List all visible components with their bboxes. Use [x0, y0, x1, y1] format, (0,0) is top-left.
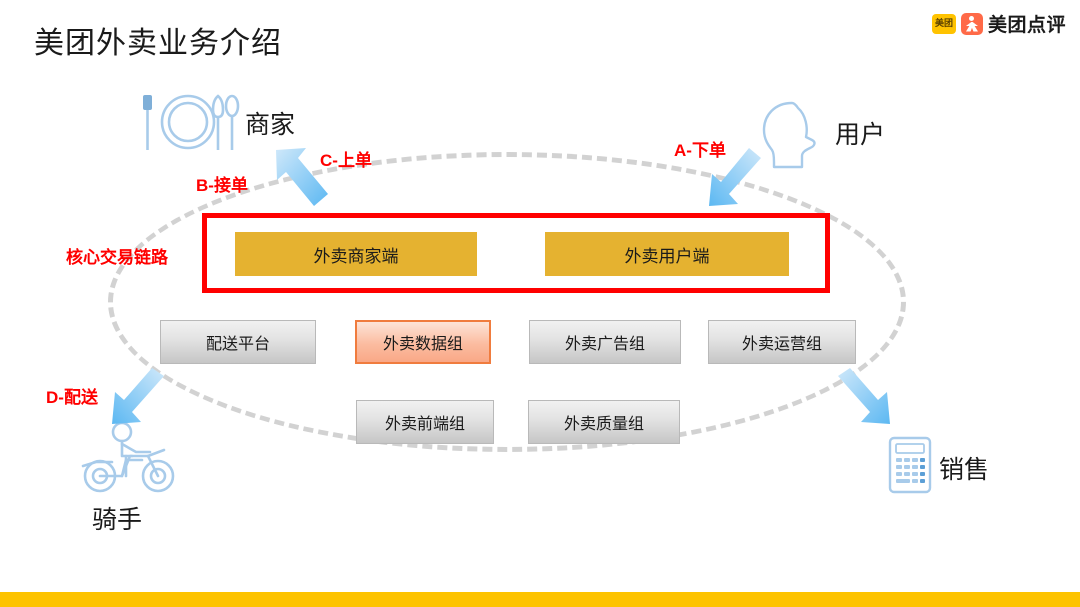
- flow-ellipse: [108, 152, 906, 452]
- bottom-accent-bar: [0, 592, 1080, 607]
- core-chain-frame: 外卖商家端 外卖用户端: [202, 213, 830, 293]
- person-head-shape: [969, 16, 974, 21]
- core-chain-label: 核心交易链路: [66, 243, 168, 268]
- meituan-person-icon: [961, 13, 983, 35]
- node-label-user: 用户: [835, 115, 885, 151]
- calculator-icon: [888, 436, 932, 494]
- flow-label-b: B-接单: [196, 171, 248, 196]
- person-body-shape: [966, 22, 978, 32]
- brand-name-label: 美团点评: [988, 10, 1066, 37]
- core-box-merchant-app[interactable]: 外卖商家端: [235, 232, 477, 276]
- node-label-merchant: 商家: [245, 105, 295, 141]
- head-profile-icon: [760, 100, 824, 170]
- team-box-delivery-platform[interactable]: 配送平台: [160, 320, 316, 364]
- cutlery-plate-icon: [136, 92, 240, 154]
- core-box-user-app[interactable]: 外卖用户端: [545, 232, 789, 276]
- page-title: 美团外卖业务介绍: [34, 18, 282, 62]
- team-box-ads-group[interactable]: 外卖广告组: [529, 320, 681, 364]
- flow-label-a: A-下单: [674, 136, 726, 161]
- arrow-downright-sales-icon: [832, 368, 894, 434]
- arrow-downleft-rider-icon: [108, 368, 170, 434]
- team-box-data-group[interactable]: 外卖数据组: [355, 320, 491, 364]
- team-box-operations-group[interactable]: 外卖运营组: [708, 320, 856, 364]
- brand-logo: 美团 美团点评: [932, 10, 1066, 37]
- team-box-frontend-group[interactable]: 外卖前端组: [356, 400, 494, 444]
- node-label-sales: 销售: [939, 450, 989, 486]
- flow-label-c: C-上单: [320, 146, 372, 171]
- flow-label-d: D-配送: [46, 383, 98, 408]
- node-label-rider: 骑手: [92, 500, 142, 536]
- slide-canvas: 美团外卖业务介绍 美团 美团点评: [0, 0, 1080, 607]
- meituan-badge-icon: 美团: [932, 14, 956, 34]
- team-box-quality-group[interactable]: 外卖质量组: [528, 400, 680, 444]
